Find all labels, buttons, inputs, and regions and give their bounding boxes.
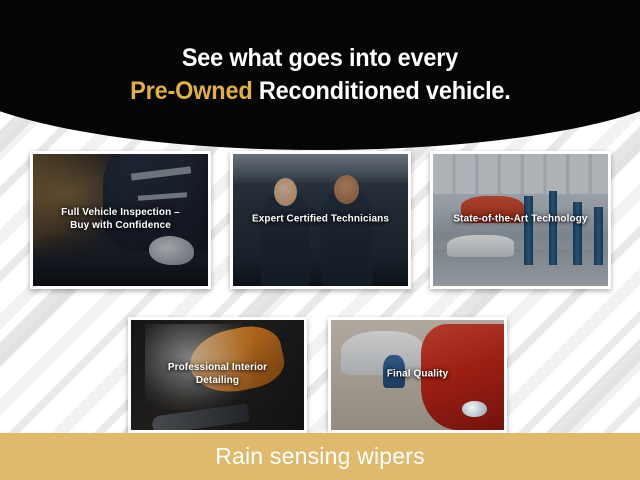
card-expert-certified-technicians[interactable]: Expert Certified Technicians — [230, 151, 411, 289]
card-state-of-the-art-technology[interactable]: State-of-the-Art Technology — [430, 151, 611, 289]
card-photo: Expert Certified Technicians — [233, 154, 408, 286]
card-label-line-1: Expert Certified Technicians — [237, 214, 404, 227]
header-content: See what goes into every Pre-Owned Recon… — [0, 0, 640, 150]
header-banner: See what goes into every Pre-Owned Recon… — [0, 0, 640, 150]
card-label-line-1: Professional Interior — [135, 362, 300, 375]
infographic-slide: See what goes into every Pre-Owned Recon… — [0, 0, 640, 480]
card-photo: Final Quality — [331, 320, 504, 430]
card-label-line-2: Detailing — [135, 375, 300, 388]
caption-bar: Rain sensing wipers — [0, 433, 640, 480]
card-label-line-1: Full Vehicle Inspection – — [37, 207, 204, 220]
headline-line-2: Pre-Owned Reconditioned vehicle. — [130, 75, 511, 108]
card-label: State-of-the-Art Technology — [433, 214, 608, 227]
car-headlamp — [462, 401, 486, 416]
card-label: Final Quality — [331, 369, 504, 382]
headline-line-2-rest: Reconditioned vehicle. — [252, 77, 510, 105]
card-photo: Full Vehicle Inspection – Buy with Confi… — [33, 154, 208, 286]
card-label: Professional Interior Detailing — [131, 362, 304, 388]
card-photo: State-of-the-Art Technology — [433, 154, 608, 286]
card-professional-interior-detailing[interactable]: Professional Interior Detailing — [128, 317, 307, 433]
card-label-line-2: Buy with Confidence — [37, 220, 204, 233]
card-label: Expert Certified Technicians — [233, 214, 408, 227]
card-label: Full Vehicle Inspection – Buy with Confi… — [33, 207, 208, 233]
caption-text: Rain sensing wipers — [215, 445, 425, 468]
card-photo: Professional Interior Detailing — [131, 320, 304, 430]
card-final-quality[interactable]: Final Quality — [328, 317, 507, 433]
headline-accent-pre-owned: Pre-Owned — [130, 77, 252, 105]
headline-line-1: See what goes into every — [182, 42, 458, 75]
card-label-line-1: Final Quality — [335, 369, 500, 382]
card-label-line-1: State-of-the-Art Technology — [437, 214, 604, 227]
card-full-vehicle-inspection[interactable]: Full Vehicle Inspection – Buy with Confi… — [30, 151, 211, 289]
